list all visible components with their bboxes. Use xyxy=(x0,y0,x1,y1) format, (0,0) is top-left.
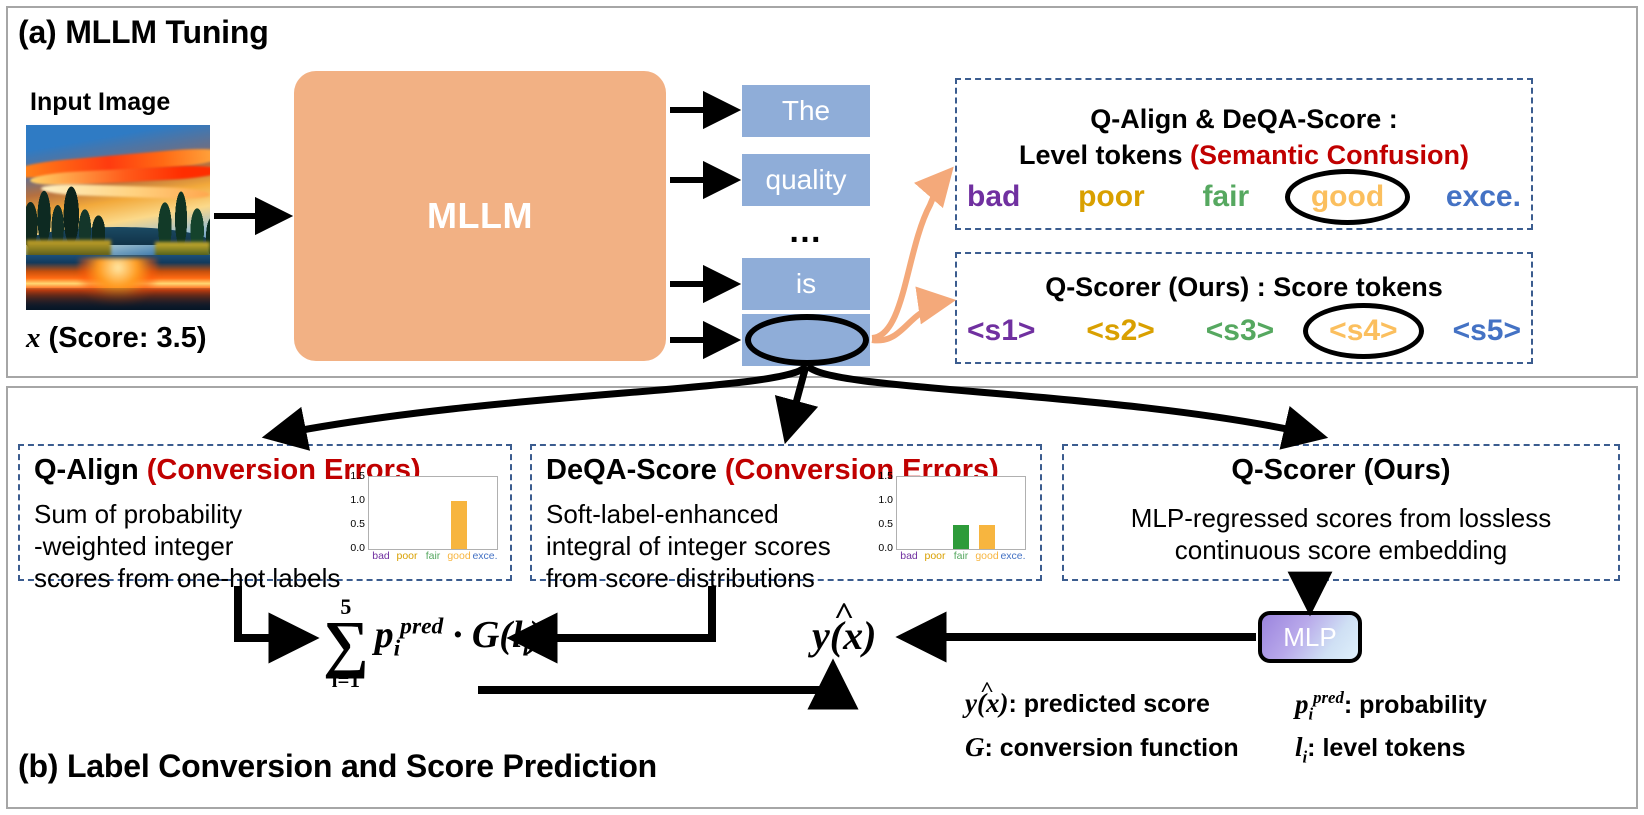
legend-level-tokens: li: level tokens xyxy=(1295,732,1625,767)
level-tokens-subtitle-plain: Level tokens xyxy=(1019,140,1190,170)
p-subscript: i xyxy=(394,636,401,662)
token-box-last xyxy=(742,314,870,366)
deqa-bar-chart: 0.00.51.01.5badpoorfairgoodexce. xyxy=(866,474,1026,570)
legend-g-symbol: G xyxy=(965,732,985,762)
y-axis-tick-label: 0.5 xyxy=(338,518,365,530)
legend-p-symbol: p xyxy=(1295,689,1309,719)
bar-slot xyxy=(923,477,949,549)
x-axis-tick-label: bad xyxy=(368,550,394,562)
qscorer-description: MLP-regressed scores from lossless conti… xyxy=(1064,502,1618,566)
score-tokens-row: <s1> <s2> <s3> <s4> <s5> xyxy=(967,312,1521,350)
legend-l-symbol: l xyxy=(1295,732,1303,762)
deqa-method-box: DeQA-Score (Conversion Errors) Soft-labe… xyxy=(530,444,1042,581)
sigma-icon: ∑ xyxy=(323,618,369,670)
y-axis-tick-label: 0.5 xyxy=(866,518,893,530)
summation-formula: 5 ∑ i=1 pipred · G(li) xyxy=(323,596,542,691)
legend-yhat-symbol: y(x) xyxy=(965,688,1008,719)
level-token-fair: fair xyxy=(1202,180,1249,214)
mllm-block: MLLM xyxy=(294,71,666,361)
p-symbol: p xyxy=(375,614,394,656)
y-axis-tick-label: 0.0 xyxy=(338,542,365,554)
bar-slot xyxy=(395,477,421,549)
qalign-method-box: Q-Align (Conversion Errors) Sum of proba… xyxy=(18,444,512,581)
legend-g-desc: : conversion function xyxy=(985,734,1239,762)
legend-p-sup: pred xyxy=(1313,688,1344,707)
bar-slot xyxy=(446,477,472,549)
x-axis-tick-label: good xyxy=(974,550,1000,562)
score-tokens-box: Q-Scorer (Ours) : Score tokens <s1> <s2>… xyxy=(955,252,1533,364)
level-token-poor: poor xyxy=(1078,180,1145,214)
legend-row-1: y(x): predicted score pipred: probabilit… xyxy=(965,688,1625,724)
qalign-description: Sum of probability -weighted integer sco… xyxy=(34,498,340,594)
bar xyxy=(979,525,995,549)
x-axis-tick-label: poor xyxy=(922,550,948,562)
yhat-text: y(x) xyxy=(812,613,876,658)
token-box-the: The xyxy=(742,85,870,137)
semantic-confusion-label: (Semantic Confusion) xyxy=(1190,140,1469,170)
legend-l-desc: : level tokens xyxy=(1307,734,1465,762)
deqa-desc-line3: from score distributions xyxy=(546,562,831,594)
legend-p-sub: i xyxy=(1309,704,1314,723)
formula-mid: · G(l xyxy=(443,614,522,656)
qalign-desc-line2: -weighted integer xyxy=(34,530,340,562)
p-superscript: pred xyxy=(400,613,443,639)
bar xyxy=(953,525,969,549)
x-axis-tick-label: exce. xyxy=(472,550,498,562)
score-token-s1: <s1> xyxy=(967,314,1035,348)
formula-legend: y(x): predicted score pipred: probabilit… xyxy=(965,688,1625,776)
deqa-desc-line1: Soft-label-enhanced xyxy=(546,498,831,530)
token-box-is: is xyxy=(742,258,870,310)
legend-conversion: G: conversion function xyxy=(965,732,1295,767)
x-axis-tick-label: fair xyxy=(948,550,974,562)
qalign-heading-plain: Q-Align xyxy=(34,454,147,486)
mlp-block: MLP xyxy=(1258,611,1362,663)
legend-yhat-desc: : predicted score xyxy=(1008,690,1209,718)
legend-yhat: y(x): predicted score xyxy=(965,688,1295,724)
x-axis-tick-label: bad xyxy=(896,550,922,562)
bar-slot xyxy=(999,477,1025,549)
x-axis-tick-label: fair xyxy=(420,550,446,562)
level-tokens-box: Q-Align & DeQA-Score : Level tokens (Sem… xyxy=(955,78,1533,230)
input-image-label: Input Image xyxy=(30,88,170,117)
y-axis-tick-label: 1.0 xyxy=(338,494,365,506)
qscorer-desc-line2: continuous score embedding xyxy=(1064,534,1618,566)
token-the-label: The xyxy=(782,95,830,127)
bar-slot xyxy=(897,477,923,549)
deqa-desc-line2: integral of integer scores xyxy=(546,530,831,562)
level-token-bad: bad xyxy=(967,180,1020,214)
bar-slot xyxy=(974,477,1000,549)
score-token-s4-highlighted: <s4> xyxy=(1325,312,1401,350)
x-axis-tick-labels: badpoorfairgoodexce. xyxy=(896,550,1026,562)
x-axis-tick-label: exce. xyxy=(1000,550,1026,562)
score-token-s5: <s5> xyxy=(1453,314,1521,348)
bar-slot xyxy=(948,477,974,549)
token-box-quality: quality xyxy=(742,154,870,206)
bar-chart-plot-area xyxy=(896,476,1026,550)
y-axis-tick-label: 1.5 xyxy=(866,470,893,482)
level-tokens-title: Q-Align & DeQA-Score : xyxy=(957,104,1531,135)
bar-chart-plot-area xyxy=(368,476,498,550)
input-caption-text: (Score: 3.5) xyxy=(41,322,207,354)
level-token-good-highlighted: good xyxy=(1307,178,1388,216)
token-quality-label: quality xyxy=(766,164,847,196)
formula-close: ) xyxy=(529,614,542,656)
level-token-exce: exce. xyxy=(1446,180,1521,214)
qalign-bar-chart: 0.00.51.01.5badpoorfairgoodexce. xyxy=(338,474,498,570)
legend-p-desc: : probability xyxy=(1344,691,1487,719)
deqa-description: Soft-label-enhanced integral of integer … xyxy=(546,498,831,594)
score-tokens-title: Q-Scorer (Ours) : Score tokens xyxy=(957,272,1531,303)
bar-slot xyxy=(369,477,395,549)
qalign-desc-line3: scores from one-hot labels xyxy=(34,562,340,594)
score-token-s3: <s3> xyxy=(1206,314,1274,348)
level-tokens-row: bad poor fair good exce. xyxy=(967,178,1521,216)
y-axis-tick-label: 0.0 xyxy=(866,542,893,554)
qscorer-heading: Q-Scorer (Ours) xyxy=(1064,454,1618,487)
yhat-symbol: y(x) xyxy=(812,612,876,659)
score-token-s2: <s2> xyxy=(1086,314,1154,348)
deqa-heading-plain: DeQA-Score xyxy=(546,454,725,486)
y-axis-tick-label: 1.5 xyxy=(338,470,365,482)
mllm-block-label: MLLM xyxy=(427,195,533,237)
legend-probability: pipred: probability xyxy=(1295,688,1625,724)
landscape-thumbnail-icon xyxy=(26,125,210,310)
y-axis-tick-label: 1.0 xyxy=(866,494,893,506)
bar xyxy=(451,501,467,549)
x-axis-tick-label: poor xyxy=(394,550,420,562)
qscorer-desc-line1: MLP-regressed scores from lossless xyxy=(1064,502,1618,534)
token-is-label: is xyxy=(796,268,816,300)
mlp-block-label: MLP xyxy=(1283,622,1336,653)
summation-operator: 5 ∑ i=1 xyxy=(323,596,369,691)
bar-slot xyxy=(420,477,446,549)
input-caption-symbol: x xyxy=(26,322,41,354)
legend-row-2: G: conversion function li: level tokens xyxy=(965,732,1625,767)
x-axis-tick-label: good xyxy=(446,550,472,562)
level-tokens-subtitle: Level tokens (Semantic Confusion) xyxy=(957,140,1531,171)
x-axis-tick-labels: badpoorfairgoodexce. xyxy=(368,550,498,562)
panel-b-title: (b) Label Conversion and Score Predictio… xyxy=(18,748,657,785)
qscorer-method-box: Q-Scorer (Ours) MLP-regressed scores fro… xyxy=(1062,444,1620,581)
summation-body: pipred · G(li) xyxy=(369,613,542,663)
legend-yhat-sym-text: y(x) xyxy=(965,688,1008,718)
qalign-desc-line1: Sum of probability xyxy=(34,498,340,530)
yhat-formula: y(x) xyxy=(812,612,876,659)
panel-a-title: (a) MLLM Tuning xyxy=(18,14,269,51)
bar-slot xyxy=(471,477,497,549)
token-ellipsis: … xyxy=(742,210,870,252)
input-image-caption: x (Score: 3.5) xyxy=(26,322,207,355)
